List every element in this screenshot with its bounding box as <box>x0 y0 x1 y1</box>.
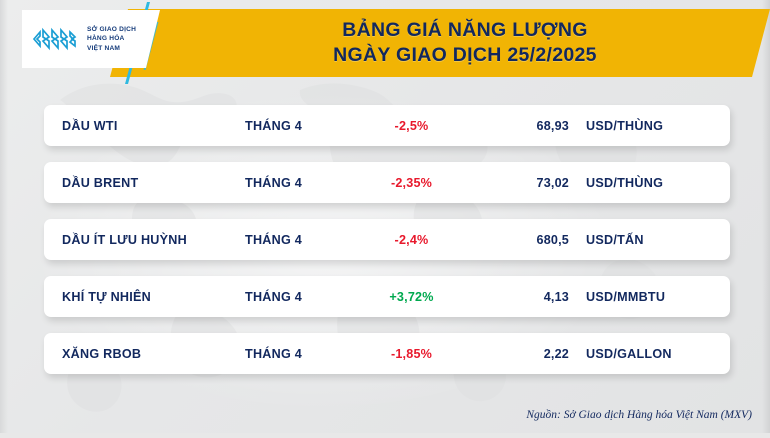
row-unit: USD/MMBTU <box>586 290 665 304</box>
title-line-1: BẢNG GIÁ NĂNG LƯỢNG <box>342 18 587 43</box>
logo-line-1: SỞ GIAO DỊCH <box>87 25 136 34</box>
table-row[interactable]: DẦU WTITHÁNG 4-2,5%68,93USD/THÙNG <box>44 105 730 146</box>
row-unit: USD/GALLON <box>586 347 672 361</box>
row-commodity-name: KHÍ TỰ NHIÊN <box>62 290 151 304</box>
brand-logo-text: SỞ GIAO DỊCH HÀNG HÓA VIỆT NAM <box>87 25 136 53</box>
row-commodity-name: XĂNG RBOB <box>62 347 141 361</box>
mxv-maze-logo-icon <box>32 24 80 54</box>
page-title: BẢNG GIÁ NĂNG LƯỢNG NGÀY GIAO DỊCH 25/2/… <box>180 10 750 76</box>
row-price: 73,02 <box>469 176 569 190</box>
row-unit: USD/THÙNG <box>586 176 663 190</box>
row-price: 680,5 <box>469 233 569 247</box>
row-price: 4,13 <box>469 290 569 304</box>
row-commodity-name: DẦU WTI <box>62 119 118 133</box>
row-contract-month: THÁNG 4 <box>245 290 302 304</box>
row-contract-month: THÁNG 4 <box>245 233 302 247</box>
row-contract-month: THÁNG 4 <box>245 176 302 190</box>
logo-line-3: VIỆT NAM <box>87 44 136 53</box>
row-price: 68,93 <box>469 119 569 133</box>
price-board-page: SỞ GIAO DỊCH HÀNG HÓA VIỆT NAM BẢNG GIÁ … <box>0 0 770 433</box>
table-row[interactable]: KHÍ TỰ NHIÊNTHÁNG 4+3,72%4,13USD/MMBTU <box>44 276 730 317</box>
row-commodity-name: DẦU ÍT LƯU HUỲNH <box>62 233 187 247</box>
brand-logo-card[interactable]: SỞ GIAO DỊCH HÀNG HÓA VIỆT NAM <box>22 10 160 68</box>
source-note: Nguồn: Sở Giao dịch Hàng hóa Việt Nam (M… <box>526 409 752 421</box>
title-line-2: NGÀY GIAO DỊCH 25/2/2025 <box>333 43 597 68</box>
header: SỞ GIAO DỊCH HÀNG HÓA VIỆT NAM BẢNG GIÁ … <box>0 0 770 88</box>
row-change-percent: -2,4% <box>344 233 479 247</box>
row-unit: USD/TẤN <box>586 233 644 247</box>
row-change-percent: -1,85% <box>344 347 479 361</box>
row-unit: USD/THÙNG <box>586 119 663 133</box>
table-row[interactable]: DẦU ÍT LƯU HUỲNHTHÁNG 4-2,4%680,5USD/TẤN <box>44 219 730 260</box>
row-price: 2,22 <box>469 347 569 361</box>
row-change-percent: -2,5% <box>344 119 479 133</box>
table-row[interactable]: XĂNG RBOBTHÁNG 4-1,85%2,22USD/GALLON <box>44 333 730 374</box>
row-change-percent: +3,72% <box>344 290 479 304</box>
row-commodity-name: DẦU BRENT <box>62 176 138 190</box>
row-contract-month: THÁNG 4 <box>245 347 302 361</box>
logo-line-2: HÀNG HÓA <box>87 34 136 43</box>
row-change-percent: -2,35% <box>344 176 479 190</box>
table-row[interactable]: DẦU BRENTTHÁNG 4-2,35%73,02USD/THÙNG <box>44 162 730 203</box>
row-contract-month: THÁNG 4 <box>245 119 302 133</box>
